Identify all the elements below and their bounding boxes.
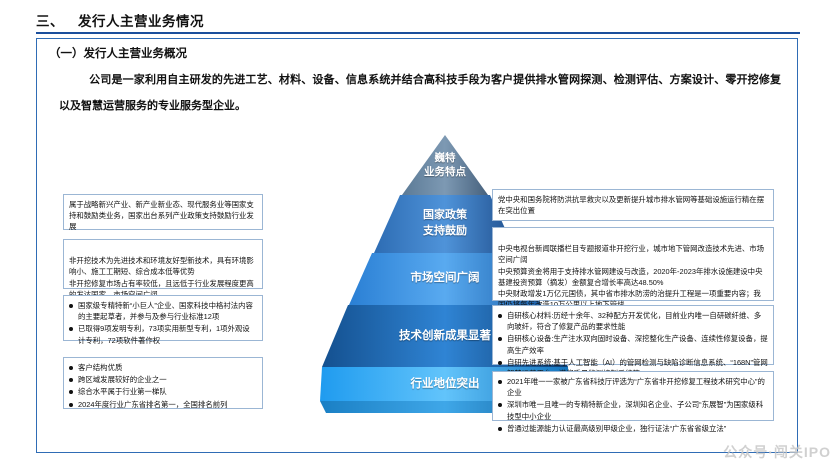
callout-right-tech-list: 自研核心材料:历经十余年、32种配方开发优化，目前业内唯一自研碳纤维、多向玻纤，… [498,310,768,379]
content-frame: （一）发行人主营业务概况 公司是一家利用自主研发的先进工艺、材料、设备、信息系统… [36,38,798,453]
document-page: 三、发行人主营业务情况 （一）发行人主营业务概况 公司是一家利用自主研发的先进工… [0,0,835,464]
section-title: 发行人主营业务情况 [78,14,204,29]
pyramid-level-4-label: 技术创新成果显著 [320,327,570,343]
callout-left-policy: 属于战略新兴产业、新产业新业态、现代服务业等国家支持和鼓励类业务，国家出台系列产… [63,194,263,230]
callout-left-tech-list: 国家级专精特新“小巨人”企业、国家科技中格衬法内容的主要起草者，并参与及参与行业… [69,300,257,346]
callout-left-tech: 国家级专精特新“小巨人”企业、国家科技中格衬法内容的主要起草者，并参与及参与行业… [63,295,263,341]
list-item: 跨区域发展较好的企业之一 [69,374,257,385]
list-item: 已取得9项发明专利，73项实用新型专利，1项外观设计专利，72项软件著作权 [69,323,257,345]
section-number: 三、 [36,10,64,30]
pyramid-level-3-label: 市场空间广阔 [320,269,570,285]
list-item: 曾通过能源能力认证最高级别甲级企业，独行证法“广东省省级立法” [498,423,768,434]
callout-left-status-list: 客户结构优质 跨区域发展较好的企业之一 综合水平属于行业第一梯队 2024年度行… [69,362,257,410]
pyramid-level-1: 巍特 业务特点 [320,135,570,195]
pyramid-level-2-label: 国家政策 支持鼓励 [320,207,570,239]
panel-paragraph: 公司是一家利用自主研发的先进工艺、材料、设备、信息系统并结合高科技手段为客户提供… [59,67,781,119]
list-item: 深圳市唯一且唯一的专精特新企业，深圳知名企业、子公司“东展智”为国家级科技型中小… [498,399,768,421]
pyramid-level-1-label: 巍特 业务特点 [320,151,570,179]
list-item: 2024年度行业广东省排名第一，全国排名前列 [69,399,257,410]
list-item: 国家级专精特新“小巨人”企业、国家科技中格衬法内容的主要起草者，并参与及参与行业… [69,300,257,322]
pyramid-level-5-label: 行业地位突出 [320,375,570,391]
watermark: 公众号·闯关IPO [723,442,831,462]
callout-left-status: 客户结构优质 跨区域发展较好的企业之一 综合水平属于行业第一梯队 2024年度行… [63,357,263,409]
list-item: 客户结构优质 [69,362,257,373]
panel-subtitle: （一）发行人主营业务概况 [49,45,187,61]
section-heading: 三、发行人主营业务情况 [36,10,800,30]
heading-divider [36,32,800,34]
list-item: 综合水平属于行业第一梯队 [69,386,257,397]
callout-left-market: 非开挖技术为先进技术和环境友好型新技术，具有环境影响小、施工工期短、综合成本低等… [63,239,263,289]
